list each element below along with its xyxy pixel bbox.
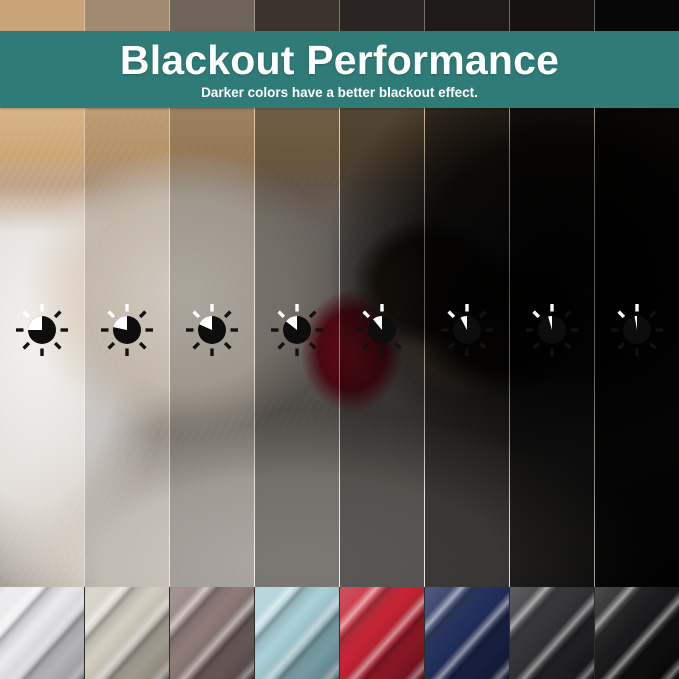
- shade-column-6: [425, 108, 510, 587]
- fabric-swatch-white[interactable]: [0, 587, 85, 679]
- top-swatch-near-black-3: [510, 0, 595, 31]
- top-swatch-gray-brown: [170, 0, 255, 31]
- top-swatch-dark-brown: [255, 0, 340, 31]
- top-swatch-near-black-1: [340, 0, 425, 31]
- shade-column-3: [170, 108, 255, 587]
- shade-column-8: [595, 108, 679, 587]
- fabric-swatch-strip: [0, 587, 679, 679]
- fabric-sheen: [170, 587, 254, 679]
- top-color-strip: [0, 0, 679, 31]
- top-swatch-near-black-2: [425, 0, 510, 31]
- top-swatch-black: [595, 0, 679, 31]
- shade-tint: [340, 108, 424, 587]
- header-band: Blackout Performance Darker colors have …: [0, 31, 679, 108]
- fabric-sheen: [340, 587, 424, 679]
- fabric-swatch-charcoal[interactable]: [510, 587, 595, 679]
- fabric-sheen: [85, 587, 169, 679]
- shade-tint: [255, 108, 339, 587]
- page-subtitle: Darker colors have a better blackout eff…: [201, 86, 478, 100]
- fabric-swatch-navy[interactable]: [425, 587, 510, 679]
- shade-column-7: [510, 108, 595, 587]
- blackout-performance-poster: Blackout Performance Darker colors have …: [0, 0, 679, 679]
- shade-tint: [85, 108, 169, 587]
- shade-tint: [425, 108, 509, 587]
- fabric-sheen: [595, 587, 679, 679]
- shade-column-4: [255, 108, 340, 587]
- fabric-swatch-cream[interactable]: [85, 587, 170, 679]
- shade-column-5: [340, 108, 425, 587]
- fabric-swatch-black[interactable]: [595, 587, 679, 679]
- shade-column-2: [85, 108, 170, 587]
- fabric-swatch-taupe[interactable]: [170, 587, 255, 679]
- shade-tint: [510, 108, 594, 587]
- shade-tint: [595, 108, 679, 587]
- fabric-sheen: [255, 587, 339, 679]
- shade-column-1: [0, 108, 85, 587]
- fabric-swatch-red[interactable]: [340, 587, 425, 679]
- shade-tint: [170, 108, 254, 587]
- photo-band: [0, 108, 679, 587]
- page-title: Blackout Performance: [120, 40, 559, 81]
- top-swatch-tan: [0, 0, 85, 31]
- blackout-shade-columns: [0, 108, 679, 587]
- top-swatch-warm-taupe: [85, 0, 170, 31]
- fabric-swatch-aqua[interactable]: [255, 587, 340, 679]
- fabric-sheen: [510, 587, 594, 679]
- fabric-sheen: [425, 587, 509, 679]
- fabric-sheen: [0, 587, 84, 679]
